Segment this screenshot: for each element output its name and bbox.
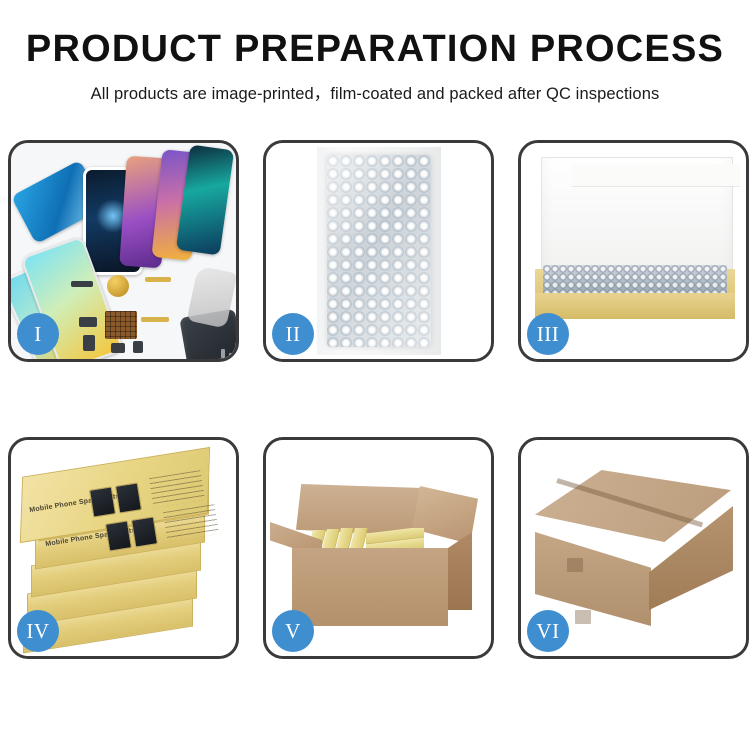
step-badge-3: III <box>527 313 569 355</box>
step-panel-1: I <box>8 140 239 362</box>
screw-2-icon <box>229 353 233 359</box>
bubble-wrap-pouch-icon <box>327 155 431 347</box>
flex-cable-icon <box>145 277 171 282</box>
step-panel-4: Mobile Phone Spare Parts Mobile Phone Sp… <box>8 437 239 659</box>
page-subtitle: All products are image-printed，film-coat… <box>0 80 750 104</box>
chip-array-icon <box>105 311 137 339</box>
step-panel-2: II <box>263 140 494 362</box>
step-image-phone-parts: I <box>11 143 236 359</box>
process-steps-grid: I II III <box>8 140 742 659</box>
box-art-screen-icon <box>89 486 116 517</box>
step-image-stacked-boxes: Mobile Phone Spare Parts Mobile Phone Sp… <box>11 440 236 656</box>
coil-part-icon <box>107 275 129 297</box>
battery-connector-icon <box>71 281 93 287</box>
step-image-sealed-carton: VI <box>521 440 746 656</box>
carton-side-panel <box>448 532 472 610</box>
bubble-wrap-layer-icon <box>543 265 727 295</box>
button-part-icon <box>133 341 143 353</box>
screw-icon <box>221 349 225 358</box>
box-art-screen-icon <box>105 520 132 551</box>
box-art-screen-icon <box>115 482 142 513</box>
speaker-icon <box>111 343 125 353</box>
step-badge-1: I <box>17 313 59 355</box>
step-badge-2: II <box>272 313 314 355</box>
yellow-tray-front <box>535 293 735 319</box>
box-art-screen-icon <box>131 516 158 547</box>
box-spec-lines <box>163 504 219 542</box>
step-panel-3: III <box>518 140 749 362</box>
step-badge-6: VI <box>527 610 569 652</box>
carton-handle-slot-icon <box>567 558 583 572</box>
camera-module-icon <box>83 335 95 351</box>
small-module-icon <box>79 317 97 327</box>
step-badge-4: IV <box>17 610 59 652</box>
carton-handle-slot-2-icon <box>575 610 591 624</box>
step-image-open-inner-box: III <box>521 143 746 359</box>
step-panel-6: VI <box>518 437 749 659</box>
carton-front-panel <box>292 548 448 626</box>
page-title: PRODUCT PREPARATION PROCESS <box>0 30 750 70</box>
step-image-open-carton: V <box>266 440 491 656</box>
lid-flap <box>572 164 740 187</box>
step-panel-5: V <box>263 437 494 659</box>
page-header: PRODUCT PREPARATION PROCESS All products… <box>0 0 750 104</box>
flex-cable-2-icon <box>141 317 169 322</box>
step-image-bubble-wrap: II <box>266 143 491 359</box>
step-badge-5: V <box>272 610 314 652</box>
